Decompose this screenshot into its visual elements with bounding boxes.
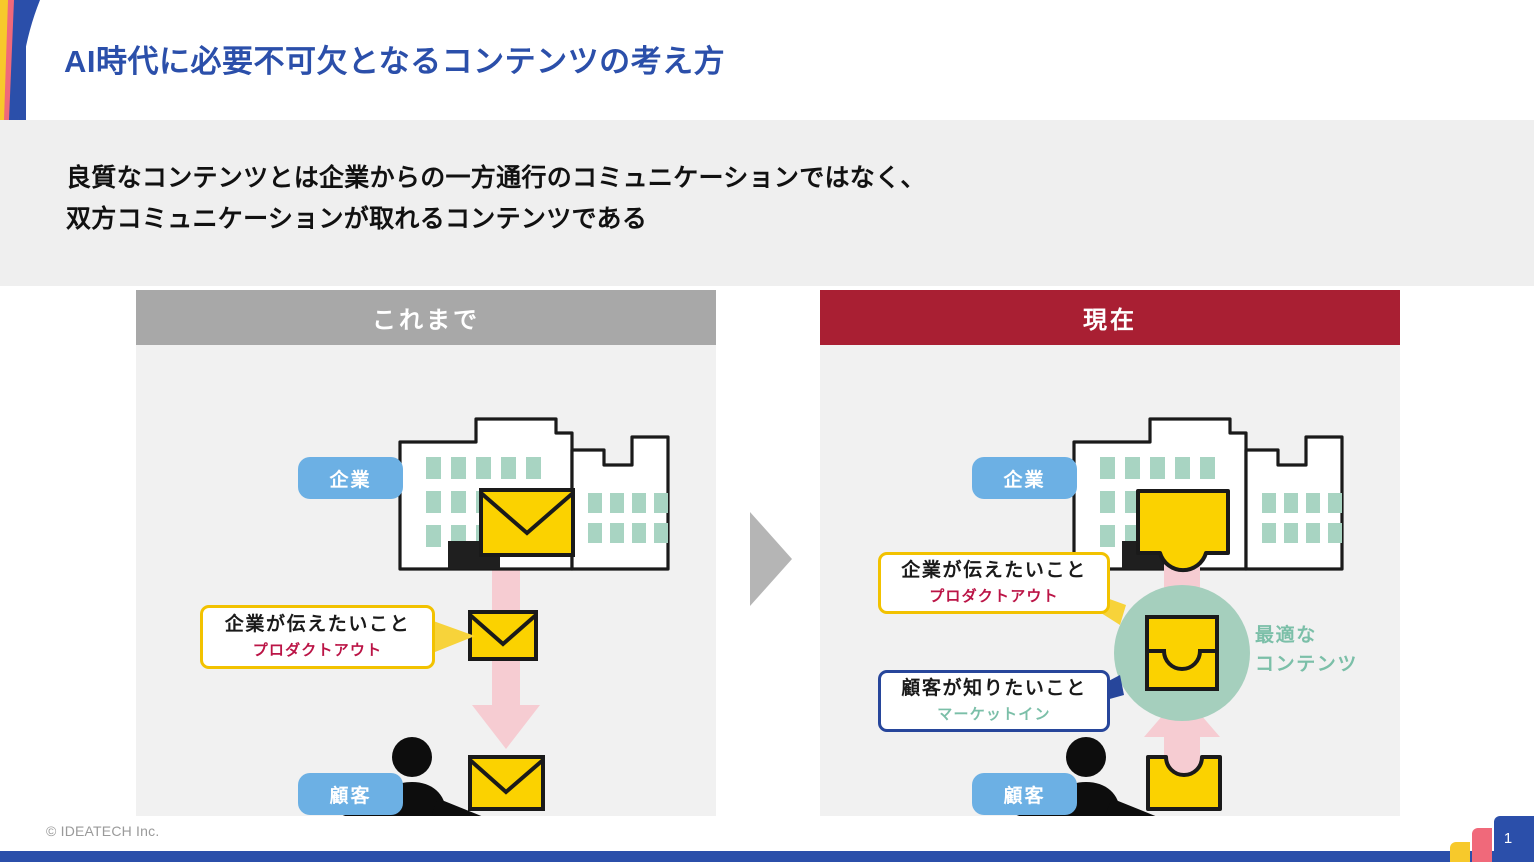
page-title: AI時代に必要不可欠となるコンテンツの考え方 <box>64 36 725 81</box>
page-number: 1 <box>1495 830 1521 847</box>
callout-sub-text: プロダクトアウト <box>253 639 383 660</box>
envelope-top <box>481 490 573 555</box>
callout-market-in-now: 顧客が知りたいこと マーケットイン <box>878 670 1110 732</box>
panel-now-body: 企業 顧客 企業が伝えたいこと プロダクトアウト 顧客が知りたいこと マーケット… <box>820 345 1400 816</box>
envelope-bottom <box>470 757 543 809</box>
callout-product-out-now: 企業が伝えたいこと プロダクトアウト <box>878 552 1110 614</box>
callout-sub-text: プロダクトアウト <box>929 585 1059 606</box>
callout-product-out-before: 企業が伝えたいこと プロダクトアウト <box>200 605 435 669</box>
corner-ribbon-decoration <box>0 0 60 120</box>
callout-main-text: 顧客が知りたいこと <box>901 678 1086 700</box>
pill-customer-now: 顧客 <box>972 773 1077 815</box>
panel-before: これまで <box>136 290 716 816</box>
bottom-accent-bar <box>0 851 1534 862</box>
copyright-text: © IDEATECH Inc. <box>46 823 159 839</box>
lead-line-2: 双方コミュニケーションが取れるコンテンツである <box>66 199 926 240</box>
panel-before-illustration <box>136 345 716 816</box>
callout-sub-text: マーケットイン <box>937 703 1050 724</box>
panel-before-body: 企業 顧客 企業が伝えたいこと プロダクトアウト <box>136 345 716 816</box>
transition-triangle-icon <box>750 512 792 606</box>
optimal-content-label-line1: 最適な <box>1255 622 1358 651</box>
optimal-content-label-line2: コンテンツ <box>1255 651 1358 680</box>
callout-main-text: 企業が伝えたいこと <box>901 560 1086 582</box>
pill-company-before: 企業 <box>298 457 403 499</box>
envelope-center <box>1147 617 1217 689</box>
lead-line-1: 良質なコンテンツとは企業からの一方通行のコミュニケーションではなく、 <box>66 158 926 199</box>
optimal-content-label: 最適な コンテンツ <box>1255 622 1358 679</box>
callout-main-text: 企業が伝えたいこと <box>225 614 410 636</box>
envelope-middle <box>470 612 536 659</box>
slide-canvas: AI時代に必要不可欠となるコンテンツの考え方 良質なコンテンツとは企業からの一方… <box>0 0 1534 862</box>
panel-now: 現在 <box>820 290 1400 816</box>
panel-now-header: 現在 <box>820 290 1400 345</box>
panel-before-header: これまで <box>136 290 716 345</box>
pill-company-now: 企業 <box>972 457 1077 499</box>
lead-text: 良質なコンテンツとは企業からの一方通行のコミュニケーションではなく、 双方コミュ… <box>66 158 926 239</box>
pill-customer-before: 顧客 <box>298 773 403 815</box>
